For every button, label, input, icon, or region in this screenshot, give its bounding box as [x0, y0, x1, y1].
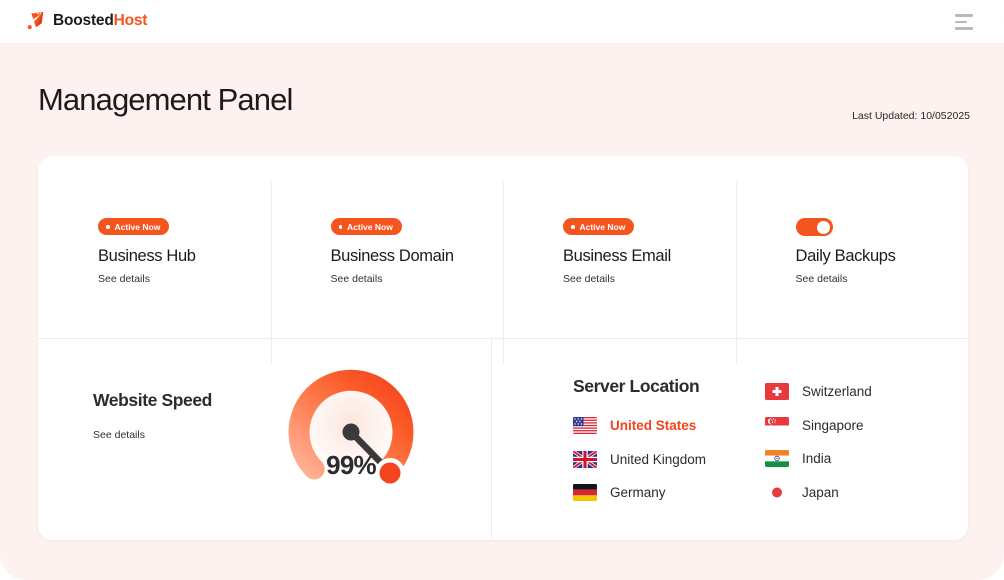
flag-ch-icon	[765, 383, 789, 400]
location-item-singapore[interactable]: Singapore	[765, 409, 965, 443]
service-card-title: Business Email	[563, 247, 736, 266]
app-window: BoostedHost Management Panel Last Update…	[0, 0, 1004, 580]
flag-in-icon	[765, 450, 789, 467]
brand-logo[interactable]: BoostedHost	[27, 11, 147, 30]
page-title: Management Panel	[38, 82, 292, 118]
speed-gauge-value: 99%	[277, 450, 425, 481]
service-card-title: Business Domain	[331, 247, 504, 266]
status-dot-icon	[571, 225, 575, 229]
status-badge: Active Now	[98, 218, 169, 235]
see-details-link[interactable]: See details	[331, 273, 504, 285]
daily-backups-toggle[interactable]	[796, 218, 833, 236]
brand-name: BoostedHost	[53, 13, 147, 29]
location-label: Germany	[610, 485, 666, 500]
location-item-japan[interactable]: Japan	[765, 476, 965, 510]
location-item-switzerland[interactable]: Switzerland	[765, 375, 965, 409]
flag-jp-icon	[765, 484, 789, 501]
location-item-united-kingdom[interactable]: United Kingdom	[573, 443, 773, 477]
status-badge-label: Active Now	[115, 222, 161, 232]
server-location-list-left: United States United Kingdom	[573, 409, 773, 510]
menu-line-3	[955, 27, 973, 30]
see-details-link[interactable]: See details	[796, 273, 969, 285]
brand-name-accent: Host	[114, 12, 148, 29]
flag-de-icon	[573, 484, 597, 501]
see-details-link[interactable]: See details	[563, 273, 736, 285]
status-badge: Active Now	[331, 218, 402, 235]
menu-line-2	[955, 21, 967, 24]
status-dot-icon	[106, 225, 110, 229]
last-updated-text: Last Updated: 10/052025	[852, 110, 970, 122]
gauge-pivot	[343, 424, 360, 441]
service-card-business-hub[interactable]: Active Now Business Hub See details	[38, 156, 271, 338]
status-badge: Active Now	[563, 218, 634, 235]
service-card-daily-backups[interactable]: Daily Backups See details	[736, 156, 969, 338]
see-details-link[interactable]: See details	[98, 273, 271, 285]
website-speed-title: Website Speed	[93, 390, 212, 411]
service-card-title: Daily Backups	[796, 247, 969, 266]
location-label: Singapore	[802, 418, 864, 433]
flag-sg-icon	[765, 417, 789, 434]
service-card-title: Business Hub	[98, 247, 271, 266]
status-dot-icon	[339, 225, 343, 229]
location-label: Switzerland	[802, 384, 872, 399]
speed-gauge-chart	[277, 358, 451, 523]
rocket-shield-icon	[27, 11, 46, 30]
panel-bottom-row: Website Speed See details	[38, 339, 968, 540]
location-label: United Kingdom	[610, 452, 706, 467]
server-location-title: Server Location	[573, 376, 699, 397]
speed-gauge: 99%	[277, 358, 451, 523]
website-speed-see-details-link[interactable]: See details	[93, 429, 145, 441]
brand-name-primary: Boosted	[53, 12, 114, 29]
status-badge-label: Active Now	[580, 222, 626, 232]
toggle-knob	[817, 221, 830, 234]
flag-us-icon	[573, 417, 597, 434]
location-item-united-states[interactable]: United States	[573, 409, 773, 443]
server-location-section: Server Location	[492, 339, 968, 540]
flag-gb-icon	[573, 451, 597, 468]
location-item-germany[interactable]: Germany	[573, 476, 773, 510]
service-card-row: Active Now Business Hub See details Acti…	[38, 156, 968, 338]
location-label: United States	[610, 418, 696, 433]
location-item-india[interactable]: India	[765, 442, 965, 476]
service-card-business-email[interactable]: Active Now Business Email See details	[503, 156, 736, 338]
menu-line-1	[955, 14, 973, 17]
dashboard-panel: Active Now Business Hub See details Acti…	[38, 156, 968, 540]
location-label: India	[802, 451, 831, 466]
status-badge-label: Active Now	[347, 222, 393, 232]
hamburger-menu-icon[interactable]	[955, 12, 977, 32]
server-location-list-right: Switzerland	[765, 375, 965, 509]
location-label: Japan	[802, 485, 839, 500]
website-speed-section: Website Speed See details	[38, 339, 492, 540]
top-bar: BoostedHost	[0, 0, 1004, 43]
service-card-business-domain[interactable]: Active Now Business Domain See details	[271, 156, 504, 338]
